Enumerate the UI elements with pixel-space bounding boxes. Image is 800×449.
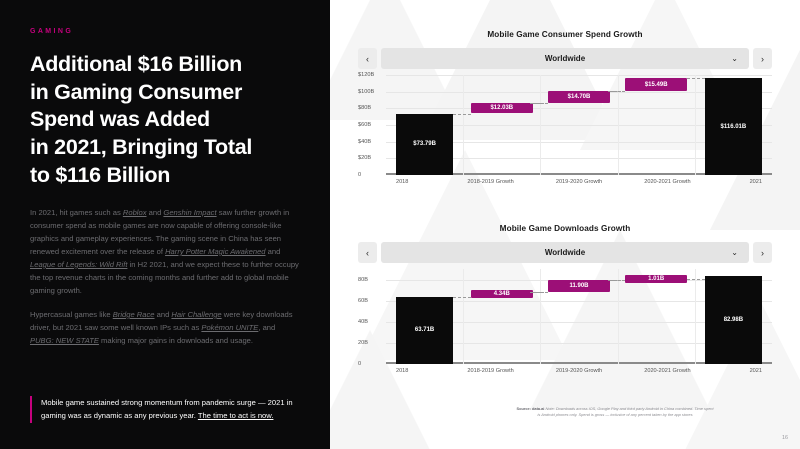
- source-note-line-1: Source: data.ai Note: Downloads across i…: [516, 406, 713, 411]
- game-title-5: Pokémon UNITE: [201, 323, 258, 332]
- growth-value-label: $15.49B: [641, 82, 672, 88]
- category-divider: [463, 75, 464, 175]
- y-axis-tick-label: 80B: [358, 277, 368, 283]
- connector-line: [687, 78, 705, 79]
- source-note-text-2: is Android phones only. Spend is gross —…: [537, 412, 692, 417]
- prev-region-button[interactable]: ‹: [358, 242, 377, 263]
- connector-line: [687, 279, 705, 280]
- region-dropdown[interactable]: Worldwide ⌄: [381, 242, 749, 263]
- callout-text: Mobile game sustained strong momentum fr…: [41, 397, 304, 422]
- gridline: [386, 75, 772, 76]
- category-divider: [618, 269, 619, 364]
- grid-area: $73.79B$12.03B$14.70B$15.49B$116.01B: [386, 75, 772, 175]
- plot-area: $73.79B$12.03B$14.70B$15.49B$116.01B0$20…: [358, 75, 772, 175]
- game-title-1: Roblox: [123, 208, 147, 217]
- plot-area: 63.71B4.34B11.90B1.01B82.98B020B40B60B80…: [358, 269, 772, 364]
- body-paragraph-1: In 2021, hit games such as Roblox and Ge…: [30, 206, 300, 297]
- region-selector-row: ‹ Worldwide ⌄ ›: [358, 48, 772, 69]
- game-title-7: League of Legends: Wild Rift: [30, 260, 127, 269]
- bar-total: 82.98B: [705, 276, 762, 364]
- y-axis-tick-label: 20B: [358, 340, 368, 346]
- region-dropdown-value: Worldwide: [545, 248, 585, 257]
- x-axis-tick-label: 2018: [396, 179, 408, 185]
- connector-line: [453, 297, 471, 298]
- bar-value-label: 63.71B: [415, 327, 434, 333]
- bar-total: $73.79B: [396, 114, 453, 175]
- connector-line: [530, 292, 548, 293]
- bar-total: 63.71B: [396, 297, 453, 364]
- bar-growth: 1.01B: [625, 275, 687, 283]
- page-number: 16: [782, 435, 788, 441]
- game-title-7: PUBG: NEW STATE: [30, 336, 99, 345]
- slide: GAMING Additional $16 Billion in Gaming …: [0, 0, 800, 449]
- category-divider: [463, 269, 464, 364]
- source-note-text-1: Note: Downloads across iOS, Google Play …: [544, 406, 713, 411]
- chevron-down-icon: ⌄: [731, 54, 738, 63]
- body-paragraph-2: Hypercasual games like Bridge Race and H…: [30, 308, 300, 347]
- charts-panel: Mobile Game Consumer Spend Growth ‹ Worl…: [330, 0, 800, 449]
- y-axis-tick-label: 0: [358, 172, 361, 178]
- region-dropdown[interactable]: Worldwide ⌄: [381, 48, 749, 69]
- page-title: Additional $16 Billion in Gaming Consume…: [30, 51, 300, 190]
- chart-block-downloads: Mobile Game Downloads Growth ‹ Worldwide…: [330, 224, 800, 364]
- bar-value-label: $73.79B: [413, 141, 436, 147]
- y-axis-tick-label: $40B: [358, 139, 371, 145]
- bar-growth: 11.90B: [548, 280, 610, 293]
- chart-title: Mobile Game Consumer Spend Growth: [330, 30, 800, 39]
- y-axis-tick-label: $20B: [358, 155, 371, 161]
- bar-total: $116.01B: [705, 78, 762, 175]
- region-dropdown-value: Worldwide: [545, 54, 585, 63]
- y-axis-tick-label: 60B: [358, 298, 368, 304]
- connector-line: [530, 103, 548, 104]
- game-title-1: Bridge Race: [113, 310, 155, 319]
- category-divider: [540, 75, 541, 175]
- y-axis-tick-label: $60B: [358, 122, 371, 128]
- x-axis-tick-label: 2018-2019 Growth: [467, 368, 513, 374]
- game-title-5: Harry Potter Magic Awakened: [165, 247, 265, 256]
- x-axis-tick-label: 2018: [396, 368, 408, 374]
- connector-line: [453, 114, 471, 115]
- connector-line: [608, 91, 626, 92]
- source-label: Source: data.ai: [516, 406, 544, 411]
- game-title-3: Hair Challenge: [171, 310, 221, 319]
- growth-value-label: 4.34B: [490, 291, 514, 297]
- key-takeaway-callout: Mobile game sustained strong momentum fr…: [30, 396, 304, 423]
- x-axis-tick-label: 2019-2020 Growth: [556, 179, 602, 185]
- bar-growth: $12.03B: [471, 103, 533, 113]
- y-axis-tick-label: $80B: [358, 105, 371, 111]
- y-axis-tick-label: 40B: [358, 319, 368, 325]
- x-axis-tick-label: 2018-2019 Growth: [467, 179, 513, 185]
- category-divider: [618, 75, 619, 175]
- bar-growth: $15.49B: [625, 78, 687, 91]
- bar-value-label: 82.98B: [724, 317, 743, 323]
- y-axis-tick-label: $100B: [358, 89, 374, 95]
- source-note: Source: data.ai Note: Downloads across i…: [450, 406, 780, 418]
- grid-area: 63.71B4.34B11.90B1.01B82.98B: [386, 269, 772, 364]
- callout-emphasis-text: The time to act is now.: [198, 411, 274, 420]
- connector-line: [608, 280, 626, 281]
- bar-growth: 4.34B: [471, 290, 533, 298]
- growth-value-label: $14.70B: [564, 94, 595, 100]
- growth-value-label: 11.90B: [565, 283, 592, 289]
- prev-region-button[interactable]: ‹: [358, 48, 377, 69]
- x-axis-tick-label: 2019-2020 Growth: [556, 368, 602, 374]
- x-axis-tick-label: 2021: [750, 179, 762, 185]
- left-text-panel: GAMING Additional $16 Billion in Gaming …: [0, 0, 330, 449]
- category-divider: [695, 75, 696, 175]
- x-axis-tick-label: 2020-2021 Growth: [644, 368, 690, 374]
- next-region-button[interactable]: ›: [753, 48, 772, 69]
- category-divider: [695, 269, 696, 364]
- y-axis-tick-label: $120B: [358, 72, 374, 78]
- chart-title: Mobile Game Downloads Growth: [330, 224, 800, 233]
- x-axis-tick-label: 2021: [750, 368, 762, 374]
- chart-block-consumer-spend: Mobile Game Consumer Spend Growth ‹ Worl…: [330, 30, 800, 175]
- region-selector-row: ‹ Worldwide ⌄ ›: [358, 242, 772, 263]
- bar-value-label: $116.01B: [721, 124, 747, 130]
- y-axis-tick-label: 0: [358, 361, 361, 367]
- next-region-button[interactable]: ›: [753, 242, 772, 263]
- x-axis-tick-label: 2020-2021 Growth: [644, 179, 690, 185]
- growth-value-label: 1.01B: [644, 276, 668, 282]
- category-divider: [540, 269, 541, 364]
- growth-value-label: $12.03B: [486, 105, 517, 111]
- bar-growth: $14.70B: [548, 91, 610, 103]
- chevron-down-icon: ⌄: [731, 248, 738, 257]
- game-title-3: Genshin Impact: [163, 208, 216, 217]
- section-eyebrow: GAMING: [30, 28, 300, 35]
